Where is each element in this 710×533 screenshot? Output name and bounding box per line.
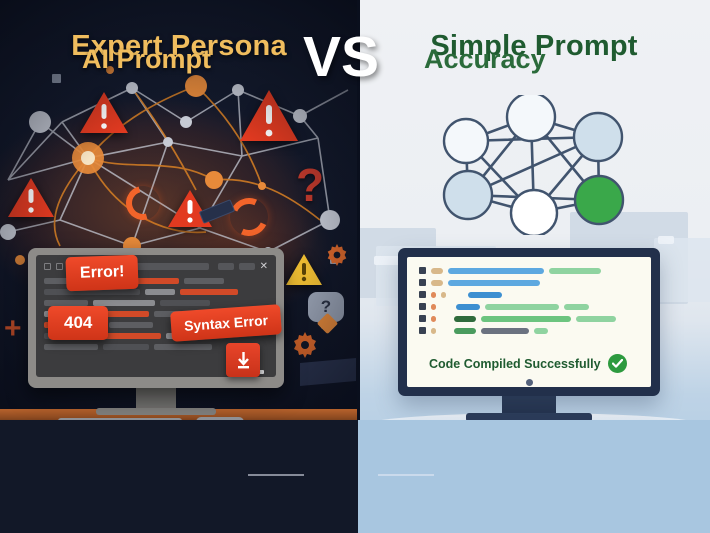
code-line <box>419 327 639 334</box>
building-window <box>658 236 674 244</box>
background-building <box>654 238 710 302</box>
left-monitor-base <box>96 408 216 415</box>
plus-icon: + <box>4 312 22 346</box>
banner-left-bg <box>0 420 358 533</box>
code-line <box>419 315 639 322</box>
line-bullet <box>419 315 426 322</box>
toolbar-chip <box>239 263 255 270</box>
toolbar-square-icon <box>44 263 51 270</box>
gear-icon <box>292 332 318 363</box>
vs-connector-line-left <box>248 474 304 476</box>
warning-triangle-icon <box>6 176 56 220</box>
close-icon[interactable]: ✕ <box>260 262 268 272</box>
toolbar-chip <box>218 263 234 270</box>
warning-triangle-icon <box>78 90 130 136</box>
bottom-banner <box>0 420 710 533</box>
gear-icon <box>326 244 348 271</box>
success-monitor: Code Compiled Successfully <box>398 248 660 396</box>
code-line <box>419 291 639 298</box>
code-line <box>419 303 639 310</box>
success-screen: Code Compiled Successfully <box>407 257 651 387</box>
left-monitor-stand <box>136 388 176 410</box>
error-badge: Error! <box>65 255 139 292</box>
status-text: Code Compiled Successfully <box>429 357 601 371</box>
question-mark-icon: ? <box>296 158 324 212</box>
toolbar-square-icon <box>56 263 63 270</box>
warning-triangle-icon <box>238 88 300 144</box>
code-line <box>419 267 639 274</box>
download-arrow-icon <box>236 352 251 369</box>
error-code-badge: 404 <box>48 306 108 340</box>
line-bullet <box>419 291 426 298</box>
warning-triangle-icon <box>284 252 324 288</box>
download-error-button[interactable] <box>226 343 260 377</box>
vs-label: VS <box>286 29 396 86</box>
line-bullet <box>419 303 426 310</box>
comparison-infographic: ? ? + <box>0 0 710 533</box>
code-line <box>419 279 639 286</box>
banner-right-label: Accuracy <box>424 44 546 75</box>
banner-right-bg <box>358 420 710 533</box>
line-bullet <box>419 267 426 274</box>
line-bullet <box>419 327 426 334</box>
banner-left-label: AI Prompt <box>82 44 211 75</box>
webcam-dot-icon <box>526 379 533 386</box>
check-circle-icon <box>608 354 627 373</box>
line-bullet <box>419 279 426 286</box>
vs-connector-line-right <box>378 474 434 476</box>
clean-network-graphic <box>418 95 643 235</box>
status-message: Code Compiled Successfully <box>429 354 627 373</box>
building-window <box>374 256 400 265</box>
